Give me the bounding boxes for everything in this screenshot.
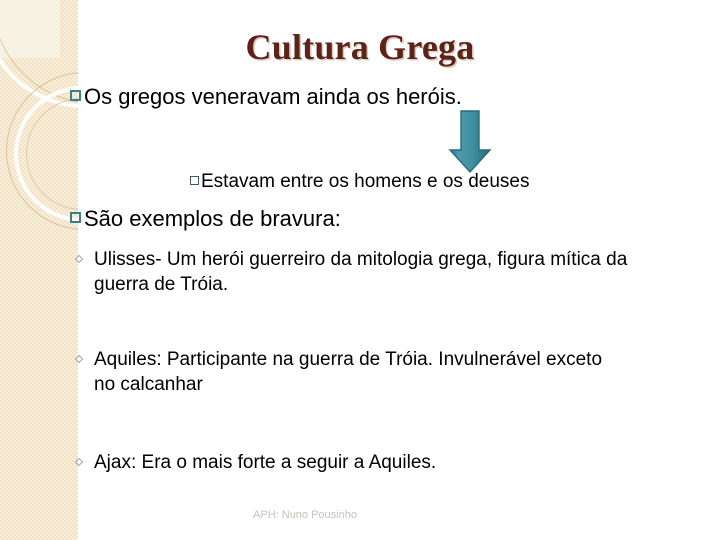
bullet-item-estavam: Estavam entre os homens e os deuses xyxy=(190,170,529,194)
decorative-left-band xyxy=(0,0,78,540)
slide-footer: APH: Nuno Pousinho xyxy=(0,509,720,521)
slide-canvas: Cultura Grega Os gregos veneravam ainda … xyxy=(0,0,720,540)
hollow-diamond-bullet-icon xyxy=(75,458,83,466)
hollow-square-bullet-small-icon xyxy=(190,176,199,185)
bullet-item-gregos: Os gregos veneravam ainda os heróis. xyxy=(70,83,462,110)
sub-bullet-item-ulisses: Ulisses- Um herói guerreiro da mitologia… xyxy=(76,247,656,297)
down-arrow-shape xyxy=(448,110,492,174)
sub-bullet-item-ajax: Ajax: Era o mais forte a seguir a Aquile… xyxy=(76,450,616,475)
sub-bullet-item-aquiles: Aquiles: Participante na guerra de Tróia… xyxy=(76,347,616,397)
bullet-item-gregos-label: Os gregos veneravam ainda os heróis. xyxy=(84,83,462,110)
sub-bullet-item-ajax-label: Ajax: Era o mais forte a seguir a Aquile… xyxy=(94,450,436,475)
hollow-diamond-bullet-icon xyxy=(75,355,83,363)
bullet-item-sao: São exemplos de bravura: xyxy=(70,205,341,232)
slide-title: Cultura Grega xyxy=(0,26,720,68)
hollow-square-bullet-icon xyxy=(70,212,81,223)
bullet-item-sao-label: São exemplos de bravura: xyxy=(84,205,341,232)
hollow-square-bullet-icon xyxy=(70,90,81,101)
bullet-item-estavam-label: Estavam entre os homens e os deuses xyxy=(201,170,529,194)
sub-bullet-item-ulisses-label: Ulisses- Um herói guerreiro da mitologia… xyxy=(94,247,656,297)
hollow-diamond-bullet-icon xyxy=(75,255,83,263)
sub-bullet-item-aquiles-label: Aquiles: Participante na guerra de Tróia… xyxy=(94,347,616,397)
